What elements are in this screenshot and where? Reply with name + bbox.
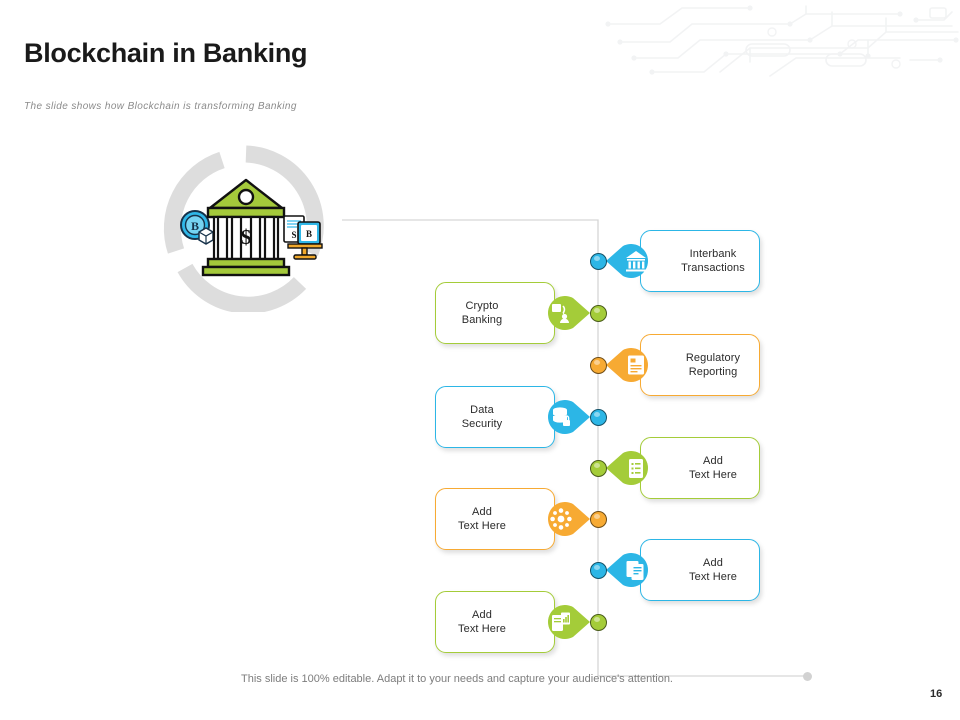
svg-text:$: $ <box>241 225 252 249</box>
card-pointer-5[interactable] <box>606 444 658 492</box>
svg-text:B: B <box>191 219 199 233</box>
database-lock-icon <box>550 406 572 428</box>
info-card-label: Regulatory Reporting <box>660 351 740 379</box>
network-nodes-icon <box>550 508 572 530</box>
info-card-label: Data Security <box>462 403 529 431</box>
report-document-icon <box>625 354 647 376</box>
timeline-node-2[interactable] <box>590 305 607 322</box>
card-pointer-4[interactable] <box>538 393 590 441</box>
info-card-8[interactable]: Add Text Here <box>435 591 555 653</box>
copy-documents-icon <box>625 559 647 581</box>
checklist-icon <box>625 457 647 479</box>
timeline-node-7[interactable] <box>590 562 607 579</box>
svg-text:S: S <box>291 230 296 240</box>
page-title: Blockchain in Banking <box>24 38 307 69</box>
info-card-7[interactable]: Add Text Here <box>640 539 760 601</box>
info-card-label: Crypto Banking <box>462 299 528 327</box>
timeline-node-5[interactable] <box>590 460 607 477</box>
info-card-label: Interbank Transactions <box>655 247 745 275</box>
circuit-pattern-decoration <box>600 0 960 86</box>
timeline-node-8[interactable] <box>590 614 607 631</box>
card-pointer-2[interactable] <box>538 289 590 337</box>
bank-blockchain-illustration: B $ <box>150 140 342 312</box>
info-card-2[interactable]: Crypto Banking <box>435 282 555 344</box>
page-subtitle: The slide shows how Blockchain is transf… <box>24 101 297 112</box>
info-card-4[interactable]: Data Security <box>435 386 555 448</box>
info-card-label: Add Text Here <box>458 608 532 636</box>
info-card-label: Add Text Here <box>663 454 737 482</box>
info-card-5[interactable]: Add Text Here <box>640 437 760 499</box>
crypto-exchange-icon <box>550 302 572 324</box>
page-number: 16 <box>930 688 942 700</box>
svg-text:B: B <box>306 229 312 239</box>
info-card-1[interactable]: Interbank Transactions <box>640 230 760 292</box>
card-pointer-3[interactable] <box>606 341 658 389</box>
card-pointer-1[interactable] <box>606 237 658 285</box>
timeline-node-3[interactable] <box>590 357 607 374</box>
timeline-node-6[interactable] <box>590 511 607 528</box>
timeline-node-1[interactable] <box>590 253 607 270</box>
card-pointer-6[interactable] <box>538 495 590 543</box>
info-card-6[interactable]: Add Text Here <box>435 488 555 550</box>
info-card-3[interactable]: Regulatory Reporting <box>640 334 760 396</box>
info-card-label: Add Text Here <box>663 556 737 584</box>
card-pointer-7[interactable] <box>606 546 658 594</box>
footer-note: This slide is 100% editable. Adapt it to… <box>241 673 673 685</box>
slide-canvas: Blockchain in Banking The slide shows ho… <box>0 0 960 720</box>
timeline-node-4[interactable] <box>590 409 607 426</box>
chart-document-icon <box>550 611 572 633</box>
card-pointer-8[interactable] <box>538 598 590 646</box>
bank-building-icon <box>625 250 647 272</box>
info-card-label: Add Text Here <box>458 505 532 533</box>
line-end-dot <box>803 672 812 681</box>
